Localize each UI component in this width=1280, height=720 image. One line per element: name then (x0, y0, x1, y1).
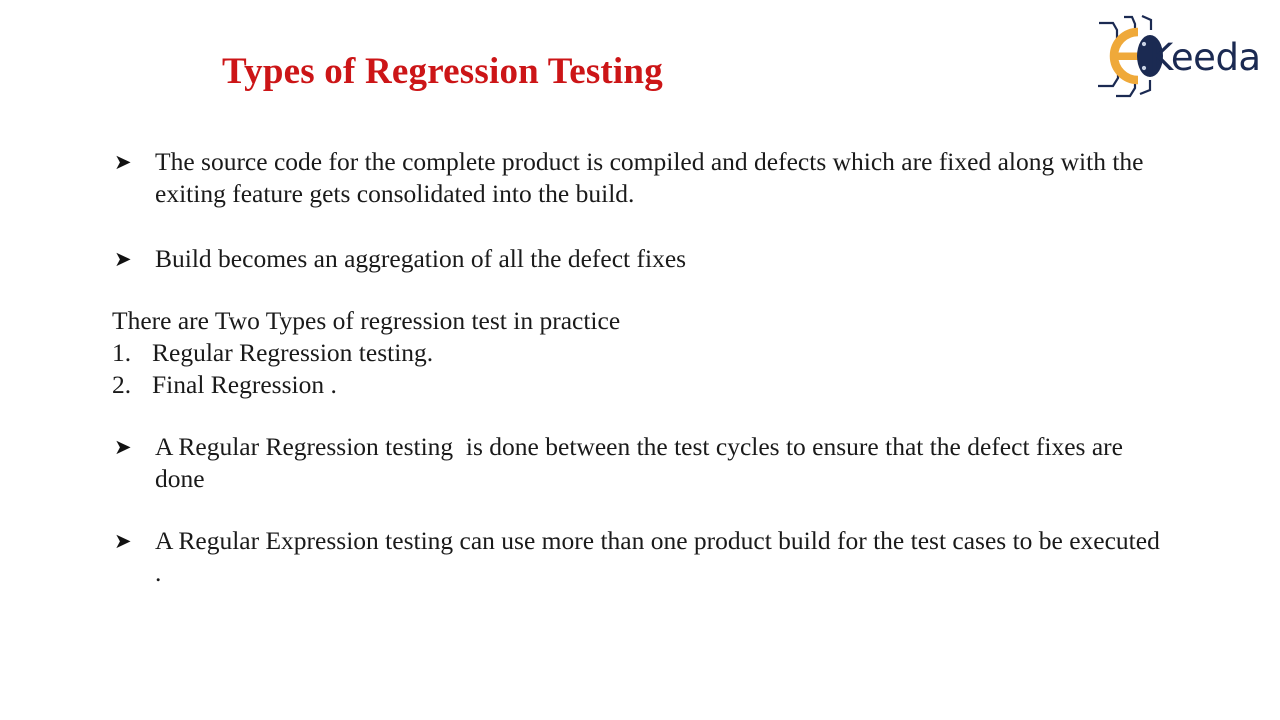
intro-line: There are Two Types of regression test i… (112, 305, 1172, 337)
list-item-label: Final Regression . (152, 370, 337, 399)
list-marker: 2. (112, 369, 131, 401)
bullet-item: ➤ Build becomes an aggregation of all th… (112, 243, 1172, 275)
logo-wordmark: Keeda (1149, 39, 1261, 76)
bullet-item: ➤ A Regular Regression testing is done b… (112, 431, 1172, 495)
list-item: 2. Final Regression . (112, 369, 1172, 401)
bullet-item: ➤ A Regular Expression testing can use m… (112, 525, 1172, 589)
bullet-text: The source code for the complete product… (155, 146, 1172, 210)
slide-body: ➤ The source code for the complete produ… (112, 146, 1172, 589)
spacer (112, 275, 1172, 305)
list-item: 1. Regular Regression testing. (112, 337, 1172, 369)
page-title: Types of Regression Testing (222, 50, 663, 93)
spacer (112, 401, 1172, 431)
slide-canvas: Keeda Types of Regression Testing ➤ The … (0, 0, 1280, 720)
spacer (112, 495, 1172, 525)
arrow-bullet-icon: ➤ (114, 243, 132, 275)
list-marker: 1. (112, 337, 131, 369)
bullet-text: A Regular Expression testing can use mor… (155, 525, 1172, 589)
ekeeda-logo[interactable]: Keeda (1094, 14, 1264, 100)
arrow-bullet-icon: ➤ (114, 525, 132, 557)
spacer (112, 210, 1172, 243)
arrow-bullet-icon: ➤ (114, 146, 132, 178)
list-item-label: Regular Regression testing. (152, 338, 433, 367)
bullet-item: ➤ The source code for the complete produ… (112, 146, 1172, 210)
arrow-bullet-icon: ➤ (114, 431, 132, 463)
bullet-text: A Regular Regression testing is done bet… (155, 431, 1172, 495)
bullet-text: Build becomes an aggregation of all the … (155, 243, 1172, 275)
